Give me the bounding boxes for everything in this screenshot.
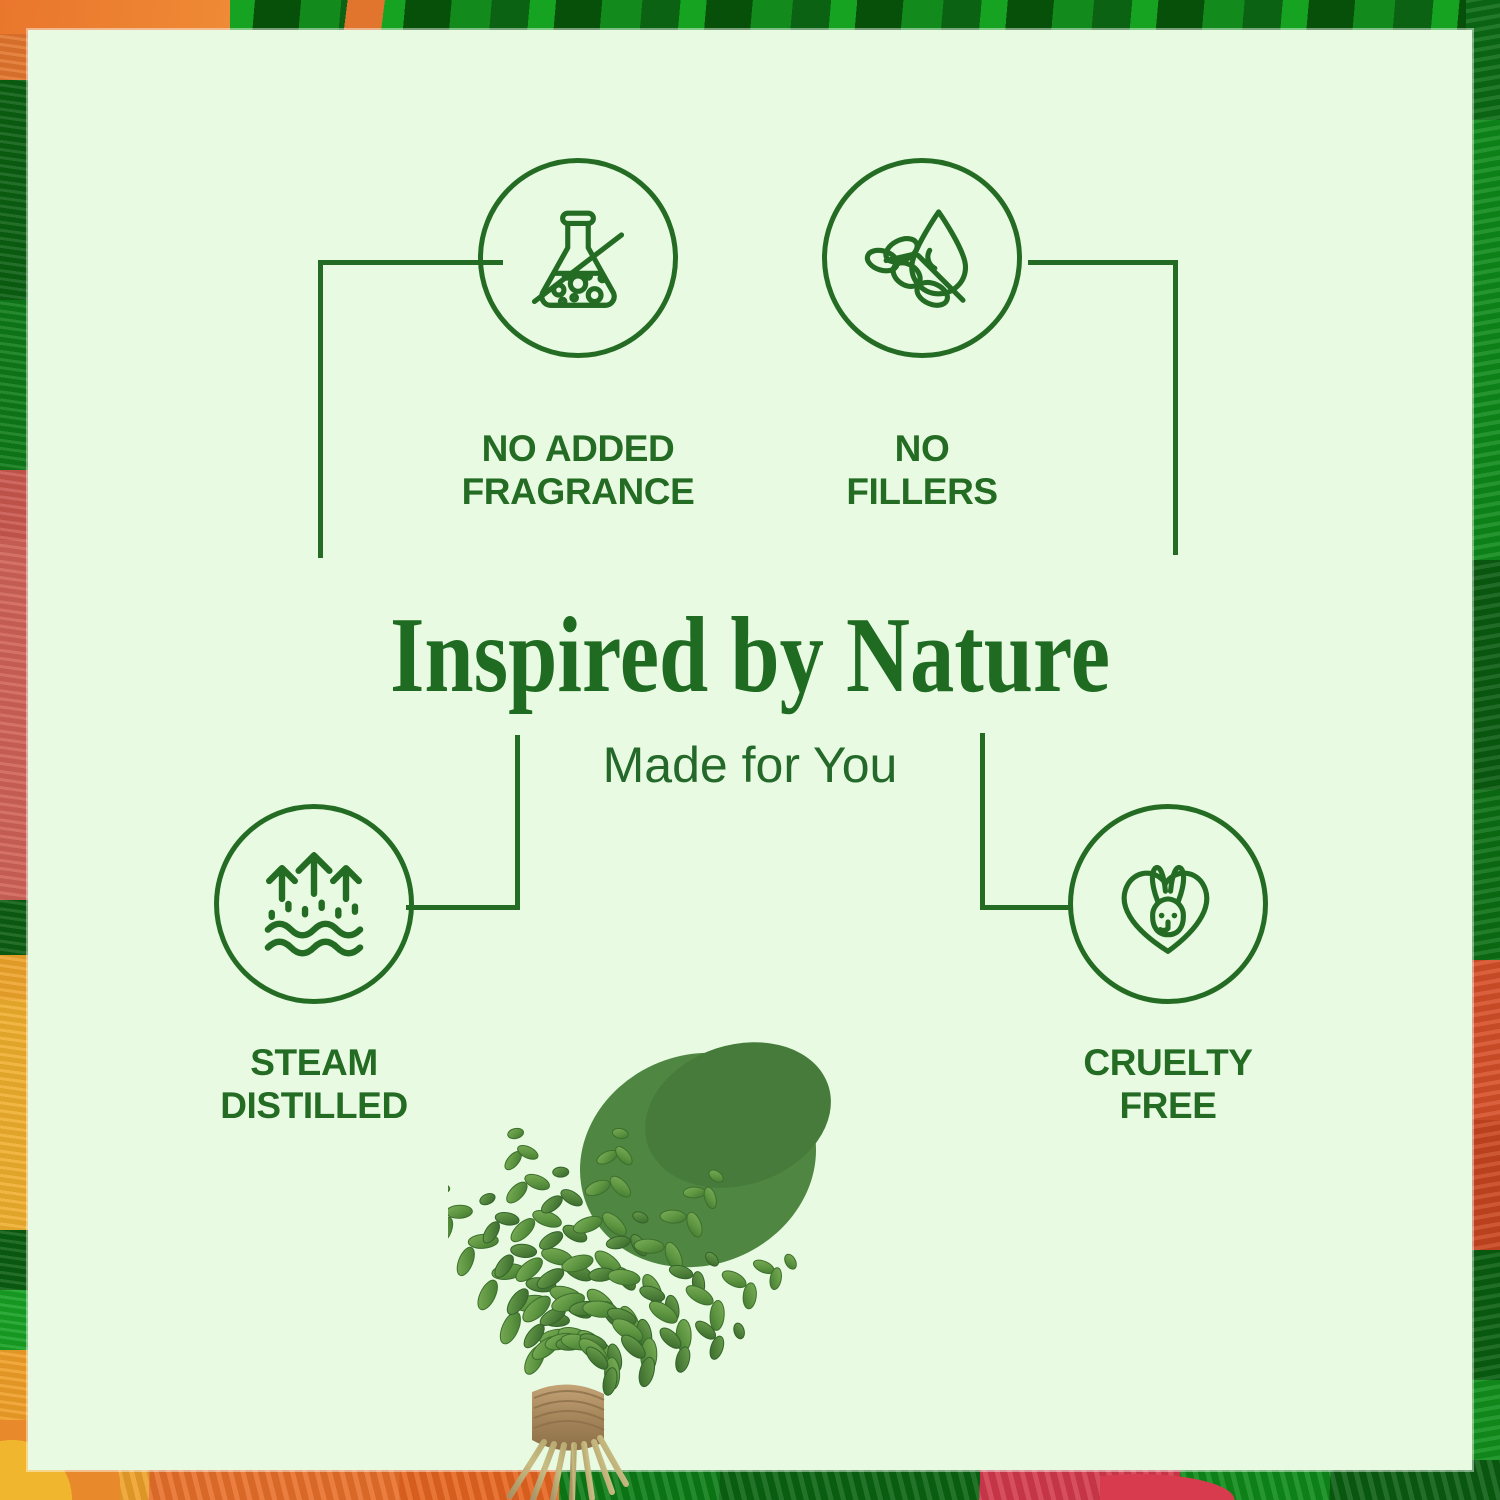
badge-label-line2: FILLERS — [752, 471, 1092, 514]
badge-steam-distilled — [214, 804, 414, 1004]
badge-no-fillers — [822, 158, 1022, 358]
droplet-leaf-icon — [858, 194, 986, 322]
badge-label-line2: DISTILLED — [144, 1085, 484, 1128]
badge-label-no-added-fragrance: NO ADDED FRAGRANCE — [408, 428, 748, 514]
badge-label-line1: NO ADDED — [408, 428, 748, 471]
page-title: Inspired by Nature — [158, 602, 1342, 710]
badge-no-added-fragrance — [478, 158, 678, 358]
badge-label-line1: CRUELTY — [998, 1042, 1338, 1085]
rabbit-in-heart-icon — [1104, 840, 1232, 968]
badge-label-line2: FRAGRANCE — [408, 471, 748, 514]
badge-label-steam-distilled: STEAM DISTILLED — [144, 1042, 484, 1128]
infographic-panel: NO ADDED FRAGRANCE NO FILLERS — [28, 30, 1472, 1470]
badge-label-line2: FREE — [998, 1085, 1338, 1128]
badge-label-no-fillers: NO FILLERS — [752, 428, 1092, 514]
flask-crossed-out-icon — [514, 194, 642, 322]
badge-label-cruelty-free: CRUELTY FREE — [998, 1042, 1338, 1128]
page-subtitle: Made for You — [28, 736, 1472, 794]
connector-top-left-vertical — [318, 260, 323, 558]
connector-top-right-horizontal — [1028, 260, 1178, 265]
thyme-bouquet-image — [448, 860, 1028, 1500]
badge-cruelty-free — [1068, 804, 1268, 1004]
border-petal-top-left — [0, 0, 230, 34]
steam-arrows-waves-icon — [250, 840, 378, 968]
connector-top-left-horizontal — [318, 260, 503, 265]
badge-label-line1: STEAM — [144, 1042, 484, 1085]
badge-label-line1: NO — [752, 428, 1092, 471]
connector-top-right-vertical — [1173, 260, 1178, 555]
